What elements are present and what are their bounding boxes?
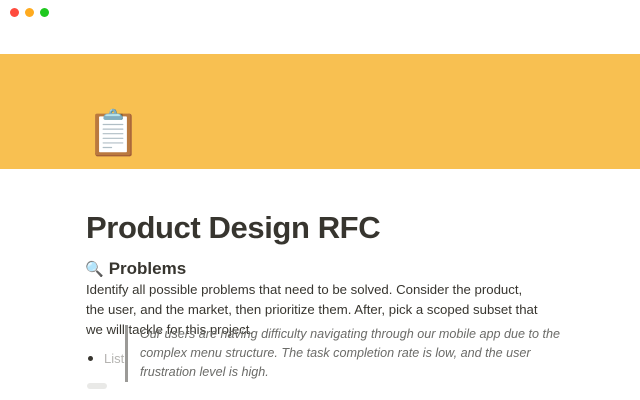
page-title[interactable]: Product Design RFC [86,209,380,247]
list-item-placeholder: List [104,349,124,368]
minimize-window-button[interactable] [25,8,34,17]
window-controls [10,8,49,17]
bullet-icon [88,356,93,361]
app-window: 📋 Product Design RFC 🔍 Problems Identify… [0,0,640,400]
blockquote-text: Our users are having difficulty navigati… [140,327,560,379]
document-page: 📋 Product Design RFC 🔍 Problems Identify… [0,27,640,400]
clipboard-emoji-icon[interactable]: 📋 [86,109,136,159]
close-window-button[interactable] [10,8,19,17]
magnifying-glass-emoji-icon: 🔍 [85,257,104,281]
list-item[interactable]: List [88,349,124,368]
empty-block-placeholder[interactable] [87,383,107,389]
section-heading-problems[interactable]: 🔍 Problems [85,257,186,281]
window-titlebar [0,0,640,27]
section-heading-label: Problems [109,257,186,281]
maximize-window-button[interactable] [40,8,49,17]
blockquote-block[interactable]: Our users are having difficulty navigati… [125,325,585,382]
